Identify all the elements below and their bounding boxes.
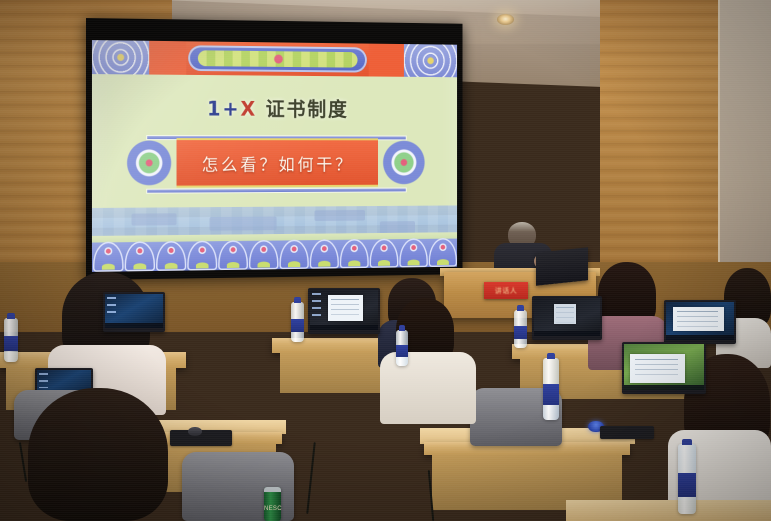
laptop-screen [534, 298, 600, 336]
desktop-icons [312, 293, 321, 320]
water-bottle-4 [543, 358, 559, 420]
slide-title-suffix: 证书制度 [266, 97, 349, 121]
podium-laptop [536, 247, 588, 285]
nameplate-text: 讲话人 [495, 286, 518, 296]
ornament-arch [339, 239, 368, 268]
slide-title-num: 1 [207, 97, 222, 121]
ornament-arch [248, 240, 278, 270]
wall-panel-right [600, 0, 720, 292]
bottle-label [678, 473, 696, 497]
ornament-arch [369, 239, 398, 268]
ornament-arch-row [92, 238, 457, 272]
laptop-mid-right [622, 342, 706, 394]
beverage-can: NESC [264, 487, 281, 521]
power-cable-3 [19, 442, 27, 482]
mosaic-block [210, 216, 277, 230]
document-window [673, 307, 725, 331]
ornament-corner-left [92, 40, 149, 74]
ornament-arch [218, 240, 248, 270]
band-gap-right [369, 44, 404, 77]
laptop-row-2b [532, 296, 602, 340]
ornament-arch [124, 241, 154, 271]
bottle-label [291, 319, 304, 333]
downlight-1 [497, 14, 514, 25]
taskbar [624, 385, 704, 390]
can-lid [264, 487, 281, 492]
wall-plaster-right [718, 0, 771, 300]
ornament-medallion-right [378, 135, 430, 189]
desktop-icons [39, 373, 48, 388]
lecture-room-photo: 1+X 证书制度 怎么看？如何干？ [0, 0, 771, 521]
laptop-screen [105, 294, 163, 328]
slide-title-x: X [240, 97, 257, 121]
water-bottle-5 [678, 444, 696, 514]
ornament-arch [309, 239, 338, 269]
projection-screen: 1+X 证书制度 怎么看？如何干？ [86, 18, 463, 280]
water-bottle-2 [291, 302, 304, 342]
taskbar [534, 331, 600, 336]
bottle-cap [682, 439, 692, 445]
projected-slide: 1+X 证书制度 怎么看？如何干？ [92, 40, 457, 272]
bottle-cap [547, 353, 556, 359]
taskbar [105, 323, 163, 328]
desktop-icons [107, 297, 116, 318]
slide-title-plus: + [222, 97, 240, 121]
attendee-body [380, 352, 476, 424]
slide-subtitle-banner: 怎么看？如何干？ [122, 132, 430, 194]
wall-seam [718, 0, 720, 300]
laptop-row-2d [103, 292, 165, 332]
laptop-screen [666, 302, 734, 340]
bottle-label [4, 336, 18, 351]
mousepad-right [600, 426, 654, 439]
laptop-row-2c [664, 300, 736, 344]
ornament-arch [92, 242, 123, 272]
banner-body: 怎么看？如何干？ [177, 138, 378, 187]
water-bottle-6 [396, 330, 408, 366]
bottle-label [396, 345, 408, 357]
bottle-label [543, 384, 559, 405]
slide-border-bottom [92, 232, 457, 272]
document-window [328, 295, 363, 321]
ornament-medallion-left [122, 135, 177, 191]
slide-border-top [92, 40, 457, 77]
slide-subtitle: 怎么看？如何干？ [202, 150, 354, 175]
bottle-cap [399, 325, 406, 331]
document-window [554, 304, 576, 324]
taskbar [666, 335, 734, 340]
bottle-label [514, 326, 527, 339]
water-bottle-1 [4, 318, 18, 362]
laptop-row-2a [308, 288, 380, 334]
ornament-arch [399, 238, 428, 267]
slide-title: 1+X 证书制度 [92, 92, 457, 122]
ornament-corner-right [404, 44, 457, 77]
ornament-cartouche [188, 45, 367, 72]
ornament-arch [279, 240, 308, 270]
water-bottle-3 [514, 310, 527, 348]
document-window [630, 354, 684, 383]
ornament-arch [156, 241, 186, 271]
nameplate: 讲话人 [484, 282, 528, 299]
mouse [188, 427, 202, 436]
power-cable-1 [306, 442, 316, 514]
desk-near-right-top [566, 500, 771, 521]
mosaic-block [314, 210, 365, 221]
band-gap-left [149, 41, 186, 75]
ornament-arch [187, 241, 217, 271]
bottle-cap [294, 297, 301, 303]
mosaic-block [132, 213, 177, 225]
laptop-screen [310, 290, 378, 330]
ornament-arch [428, 238, 456, 267]
bottle-cap [517, 305, 524, 311]
attendee-hair [28, 388, 168, 521]
bottle-cap [7, 313, 15, 319]
laptop-screen [624, 344, 704, 390]
taskbar [310, 325, 378, 330]
can-brand-label: NESC [264, 506, 281, 512]
